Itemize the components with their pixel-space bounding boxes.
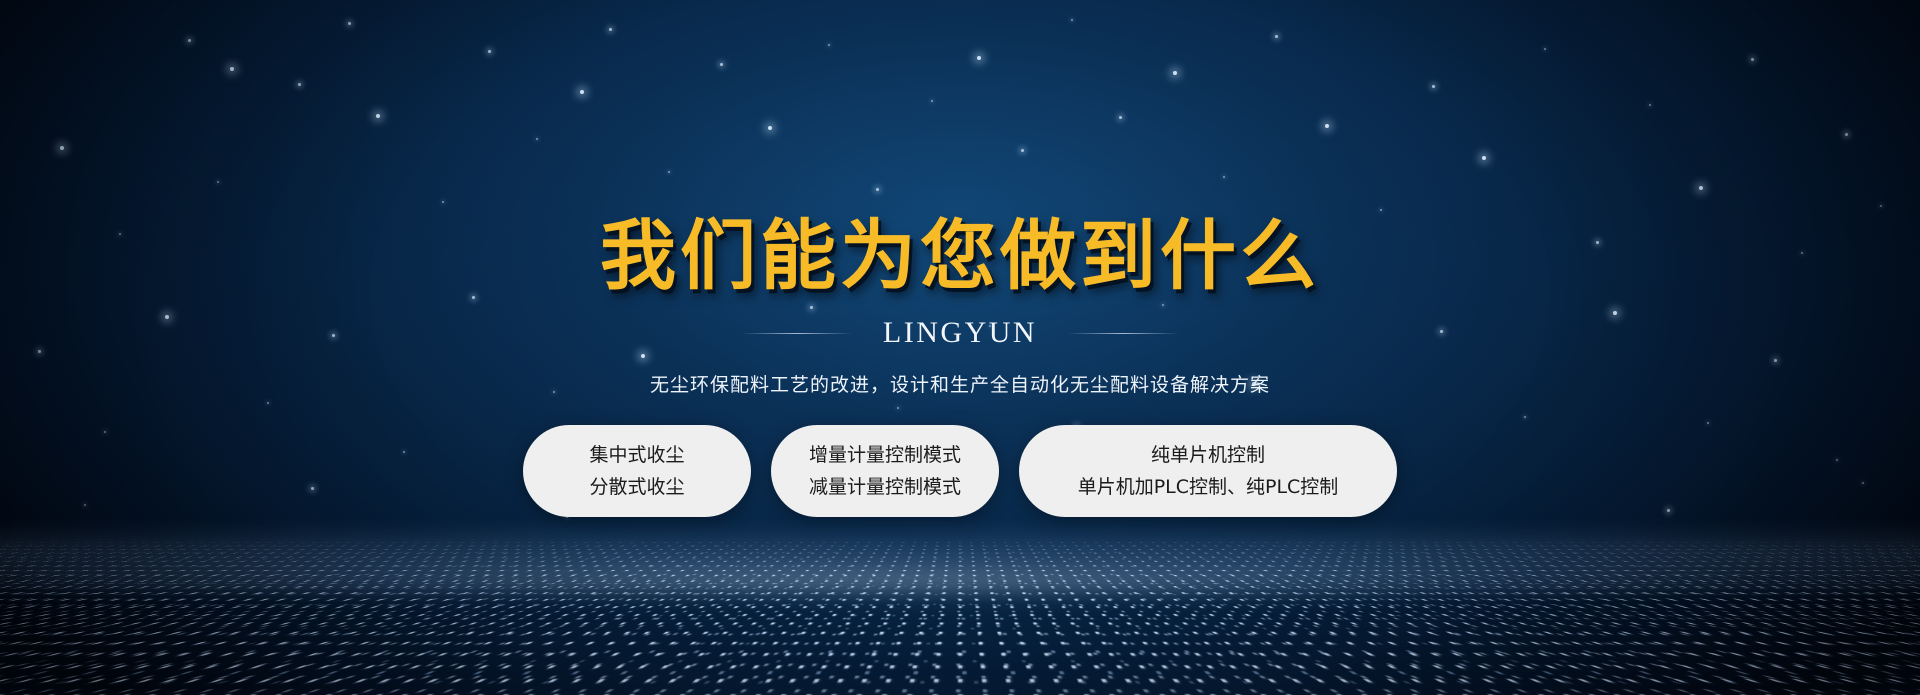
pill-line: 单片机加PLC控制、纯PLC控制 [1049, 477, 1367, 498]
feature-pill[interactable]: 增量计量控制模式 减量计量控制模式 [771, 425, 999, 517]
grid-dots-secondary [0, 563, 1920, 695]
tagline: 无尘环保配料工艺的改进，设计和生产全自动化无尘配料设备解决方案 [0, 370, 1920, 397]
pill-line: 分散式收尘 [553, 477, 721, 498]
pill-line: 增量计量控制模式 [801, 445, 969, 466]
brand-name: LINGYUN [883, 316, 1037, 350]
grid-haze [0, 523, 1920, 593]
pill-line: 集中式收尘 [553, 445, 721, 466]
feature-pill-list: 集中式收尘 分散式收尘 增量计量控制模式 减量计量控制模式 纯单片机控制 单片机… [0, 425, 1920, 517]
grid-fade-right [1909, 505, 1920, 695]
page-title: 我们能为您做到什么 [0, 218, 1920, 294]
particle-grid-plane [0, 505, 1920, 695]
grid-highlight [26, 557, 1746, 603]
grid-dots-primary [0, 539, 1920, 695]
hero-banner: 我们能为您做到什么 LINGYUN 无尘环保配料工艺的改进，设计和生产全自动化无… [0, 0, 1920, 695]
brand-rule-right [1067, 333, 1179, 334]
feature-pill[interactable]: 纯单片机控制 单片机加PLC控制、纯PLC控制 [1019, 425, 1397, 517]
grid-fade-left [0, 505, 11, 695]
brand-rule-left [741, 333, 853, 334]
pill-line: 减量计量控制模式 [801, 477, 969, 498]
feature-pill[interactable]: 集中式收尘 分散式收尘 [523, 425, 751, 517]
banner-content: 我们能为您做到什么 LINGYUN 无尘环保配料工艺的改进，设计和生产全自动化无… [0, 0, 1920, 517]
pill-line: 纯单片机控制 [1049, 445, 1367, 466]
brand-row: LINGYUN [0, 316, 1920, 350]
